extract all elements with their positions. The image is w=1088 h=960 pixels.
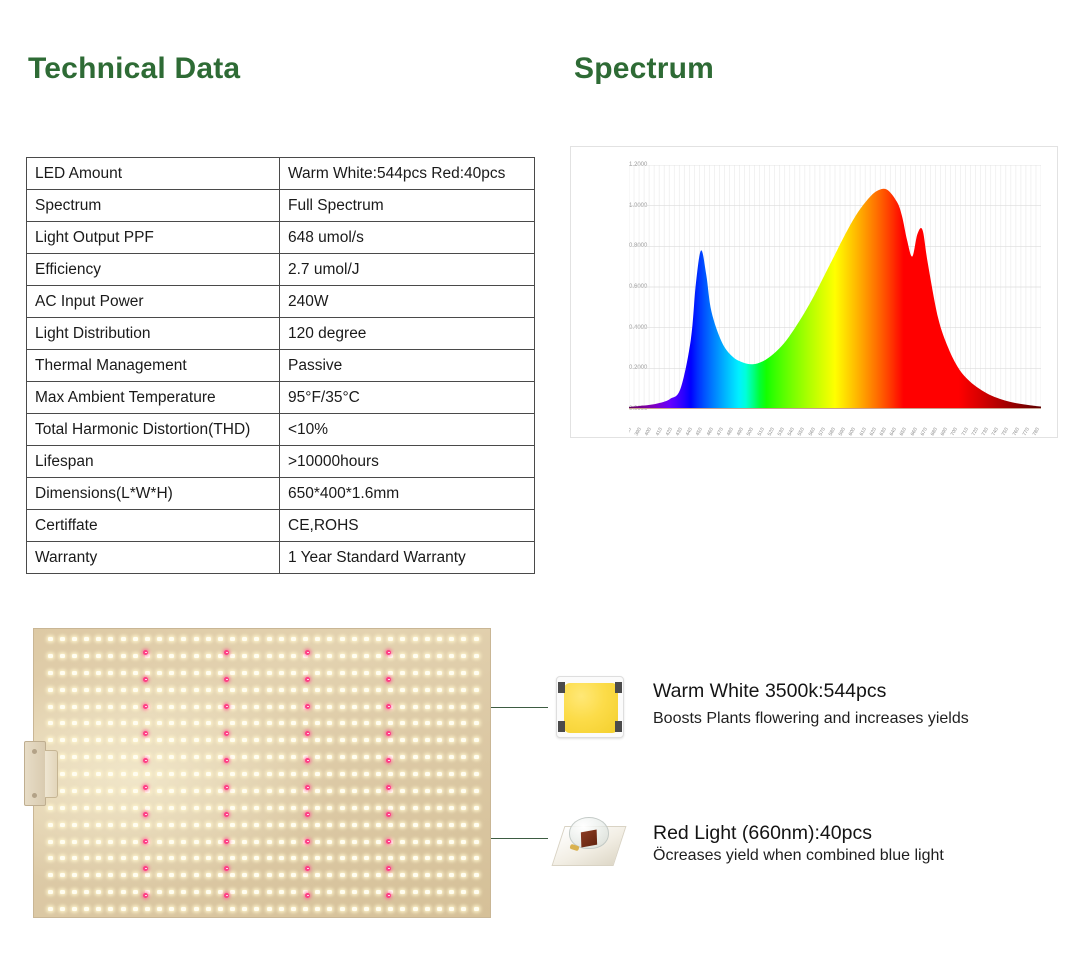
white-led xyxy=(437,654,442,658)
white-led xyxy=(181,654,186,658)
white-led xyxy=(413,755,418,759)
technical-data-table: LED AmountWarm White:544pcs Red:40pcsSpe… xyxy=(26,157,535,574)
white-led xyxy=(133,772,138,776)
white-led xyxy=(267,755,272,759)
white-led xyxy=(206,823,211,827)
white-led xyxy=(352,840,357,844)
white-led xyxy=(461,671,466,675)
white-led xyxy=(181,890,186,894)
white-led xyxy=(254,637,259,641)
white-led xyxy=(194,873,199,877)
white-led xyxy=(267,907,272,911)
white-led xyxy=(157,873,162,877)
white-led xyxy=(194,654,199,658)
white-led xyxy=(194,772,199,776)
white-led xyxy=(254,873,259,877)
white-led xyxy=(230,738,235,742)
x-axis-tick-label: 480 xyxy=(726,427,735,437)
x-axis-tick-label: 780 xyxy=(1032,427,1041,437)
white-led xyxy=(327,856,332,860)
red-led xyxy=(386,758,391,763)
x-axis-tick-label: 450 xyxy=(695,427,704,437)
white-led xyxy=(291,637,296,641)
white-led xyxy=(133,654,138,658)
red-led xyxy=(305,731,310,736)
white-led xyxy=(461,738,466,742)
white-led xyxy=(352,772,357,776)
white-led xyxy=(218,688,223,692)
white-led xyxy=(388,873,393,877)
white-led xyxy=(291,772,296,776)
table-row: Max Ambient Temperature95°F/35°C xyxy=(27,382,535,414)
white-led xyxy=(72,890,77,894)
white-led xyxy=(133,856,138,860)
white-led xyxy=(84,738,89,742)
white-led xyxy=(60,637,65,641)
white-led xyxy=(169,755,174,759)
white-led xyxy=(400,772,405,776)
white-led xyxy=(291,823,296,827)
x-axis-tick-label: 750 xyxy=(1001,427,1010,437)
white-led xyxy=(376,738,381,742)
white-led xyxy=(60,840,65,844)
white-led xyxy=(291,671,296,675)
white-led xyxy=(254,806,259,810)
white-led xyxy=(449,873,454,877)
white-led xyxy=(84,637,89,641)
white-led xyxy=(194,789,199,793)
white-led xyxy=(60,654,65,658)
white-led xyxy=(157,721,162,725)
white-led xyxy=(181,637,186,641)
white-led xyxy=(291,856,296,860)
x-axis-tick-label: 670 xyxy=(919,427,928,437)
white-led xyxy=(437,738,442,742)
white-led xyxy=(413,823,418,827)
white-led xyxy=(461,705,466,709)
white-led xyxy=(291,755,296,759)
white-led xyxy=(108,721,113,725)
white-led xyxy=(254,856,259,860)
spec-key: Light Distribution xyxy=(27,318,280,350)
white-led xyxy=(376,789,381,793)
white-led xyxy=(364,637,369,641)
white-led xyxy=(206,789,211,793)
white-led xyxy=(121,721,126,725)
white-led xyxy=(376,823,381,827)
x-axis-tick-label: 520 xyxy=(766,427,775,437)
white-led xyxy=(279,856,284,860)
white-led xyxy=(218,637,223,641)
white-led xyxy=(206,907,211,911)
red-led xyxy=(224,785,229,790)
white-led xyxy=(230,688,235,692)
white-led xyxy=(413,856,418,860)
white-led xyxy=(169,671,174,675)
white-led xyxy=(449,755,454,759)
white-led xyxy=(145,671,150,675)
white-led xyxy=(194,688,199,692)
white-led xyxy=(376,772,381,776)
table-row: Light Distribution120 degree xyxy=(27,318,535,350)
white-led xyxy=(461,890,466,894)
white-led xyxy=(388,637,393,641)
white-led xyxy=(60,873,65,877)
white-led xyxy=(303,738,308,742)
white-led xyxy=(169,890,174,894)
white-led xyxy=(108,907,113,911)
white-led xyxy=(230,772,235,776)
spec-key: Warranty xyxy=(27,542,280,574)
red-led xyxy=(305,758,310,763)
white-led xyxy=(474,856,479,860)
white-led xyxy=(169,654,174,658)
white-led xyxy=(96,890,101,894)
white-led xyxy=(242,806,247,810)
white-led xyxy=(352,789,357,793)
white-led xyxy=(461,654,466,658)
white-led xyxy=(72,772,77,776)
white-led xyxy=(327,840,332,844)
white-led xyxy=(461,873,466,877)
white-led xyxy=(48,654,53,658)
white-led xyxy=(48,705,53,709)
x-axis-tick-label: 770 xyxy=(1021,427,1030,437)
white-led xyxy=(425,721,430,725)
table-row: Warranty1 Year Standard Warranty xyxy=(27,542,535,574)
white-led xyxy=(327,637,332,641)
white-led xyxy=(169,873,174,877)
red-led xyxy=(386,893,391,898)
table-row: SpectrumFull Spectrum xyxy=(27,190,535,222)
white-led xyxy=(145,738,150,742)
white-led xyxy=(364,840,369,844)
red-led xyxy=(386,677,391,682)
white-led xyxy=(72,873,77,877)
white-led xyxy=(169,772,174,776)
white-led xyxy=(315,654,320,658)
white-led xyxy=(449,806,454,810)
white-led xyxy=(157,789,162,793)
white-led xyxy=(133,806,138,810)
white-led xyxy=(327,755,332,759)
white-led xyxy=(327,789,332,793)
white-led xyxy=(388,806,393,810)
white-led xyxy=(474,671,479,675)
white-led xyxy=(388,721,393,725)
x-axis-tick-label: 630 xyxy=(879,427,888,437)
x-axis-tick-label: 570 xyxy=(817,427,826,437)
white-led xyxy=(340,637,345,641)
white-led xyxy=(254,907,259,911)
white-led xyxy=(413,890,418,894)
white-led xyxy=(96,705,101,709)
white-led xyxy=(388,688,393,692)
white-led xyxy=(340,806,345,810)
white-led xyxy=(218,755,223,759)
white-led xyxy=(60,738,65,742)
white-led xyxy=(206,806,211,810)
white-led xyxy=(48,671,53,675)
white-led xyxy=(230,856,235,860)
white-led xyxy=(206,671,211,675)
white-led xyxy=(218,772,223,776)
white-led xyxy=(145,637,150,641)
white-led xyxy=(267,789,272,793)
x-axis-tick-label: 660 xyxy=(909,427,918,437)
white-led xyxy=(461,721,466,725)
white-led xyxy=(425,671,430,675)
white-led xyxy=(364,823,369,827)
white-led xyxy=(96,637,101,641)
white-led xyxy=(425,637,430,641)
white-led xyxy=(84,890,89,894)
white-led xyxy=(157,856,162,860)
x-axis-tick-label: 500 xyxy=(746,427,755,437)
white-led xyxy=(108,688,113,692)
table-row: Light Output PPF648 umol/s xyxy=(27,222,535,254)
x-axis-tick-label: 740 xyxy=(991,427,1000,437)
white-led xyxy=(84,654,89,658)
x-axis-tick-label: 420 xyxy=(664,427,673,437)
white-led xyxy=(388,738,393,742)
white-led xyxy=(437,705,442,709)
white-led xyxy=(254,688,259,692)
white-led xyxy=(242,705,247,709)
white-led xyxy=(340,873,345,877)
red-led xyxy=(305,785,310,790)
white-led xyxy=(230,823,235,827)
white-led xyxy=(340,772,345,776)
white-led xyxy=(340,721,345,725)
white-led xyxy=(169,637,174,641)
white-led xyxy=(194,705,199,709)
white-led xyxy=(364,789,369,793)
white-led xyxy=(84,705,89,709)
spec-value: <10% xyxy=(280,414,535,446)
white-led xyxy=(121,705,126,709)
red-led xyxy=(386,731,391,736)
white-led xyxy=(169,738,174,742)
white-led xyxy=(279,890,284,894)
white-led xyxy=(48,738,53,742)
white-led xyxy=(364,688,369,692)
white-led xyxy=(376,654,381,658)
white-led xyxy=(206,721,211,725)
x-axis-tick-label: 620 xyxy=(868,427,877,437)
white-led xyxy=(254,654,259,658)
white-led xyxy=(96,856,101,860)
white-led xyxy=(181,755,186,759)
red-led xyxy=(386,866,391,871)
white-led xyxy=(437,688,442,692)
white-led xyxy=(340,688,345,692)
white-led xyxy=(327,721,332,725)
white-led xyxy=(133,840,138,844)
white-led xyxy=(145,721,150,725)
spec-value: 120 degree xyxy=(280,318,535,350)
white-led xyxy=(327,806,332,810)
x-axis-tick-label: 650 xyxy=(899,427,908,437)
white-led xyxy=(437,671,442,675)
spec-value: Warm White:544pcs Red:40pcs xyxy=(280,158,535,190)
white-led xyxy=(133,873,138,877)
white-led xyxy=(218,823,223,827)
white-led xyxy=(206,705,211,709)
white-led xyxy=(121,755,126,759)
white-led xyxy=(388,772,393,776)
white-led xyxy=(315,705,320,709)
white-led xyxy=(108,840,113,844)
white-led xyxy=(352,873,357,877)
x-axis-tick-label: 380 xyxy=(629,427,633,437)
white-led xyxy=(157,907,162,911)
white-led xyxy=(352,907,357,911)
white-led xyxy=(449,772,454,776)
red-led xyxy=(143,677,148,682)
white-led xyxy=(72,637,77,641)
white-led xyxy=(84,772,89,776)
white-led xyxy=(230,907,235,911)
white-led xyxy=(169,789,174,793)
white-led xyxy=(96,907,101,911)
table-row: LED AmountWarm White:544pcs Red:40pcs xyxy=(27,158,535,190)
white-led xyxy=(181,772,186,776)
white-led xyxy=(303,772,308,776)
white-led xyxy=(218,907,223,911)
white-led xyxy=(449,890,454,894)
white-led xyxy=(157,705,162,709)
white-led xyxy=(437,637,442,641)
white-led xyxy=(60,772,65,776)
white-led xyxy=(169,806,174,810)
white-led xyxy=(230,755,235,759)
white-led xyxy=(169,721,174,725)
callout-title-warm-white: Warm White 3500k:544pcs xyxy=(653,680,886,703)
x-axis-tick-label: 430 xyxy=(675,427,684,437)
white-led xyxy=(388,671,393,675)
white-led xyxy=(230,671,235,675)
white-led xyxy=(279,654,284,658)
white-led xyxy=(376,840,381,844)
table-row: Efficiency2.7 umol/J xyxy=(27,254,535,286)
white-led xyxy=(84,789,89,793)
white-led xyxy=(474,806,479,810)
red-led xyxy=(224,866,229,871)
white-led xyxy=(157,806,162,810)
white-led xyxy=(400,721,405,725)
x-axis-tick-label: 390 xyxy=(634,427,643,437)
white-led xyxy=(437,806,442,810)
white-led xyxy=(230,637,235,641)
white-led xyxy=(48,637,53,641)
white-led xyxy=(340,890,345,894)
white-led xyxy=(96,789,101,793)
white-led xyxy=(133,755,138,759)
table-row: AC Input Power240W xyxy=(27,286,535,318)
x-axis-tick-label: 550 xyxy=(797,427,806,437)
red-led xyxy=(224,839,229,844)
white-led xyxy=(437,890,442,894)
white-led xyxy=(242,688,247,692)
white-led xyxy=(157,840,162,844)
callout-subtitle-red-light: Öcreases yield when combined blue light xyxy=(653,847,944,865)
white-led xyxy=(194,637,199,641)
white-led xyxy=(291,705,296,709)
white-led xyxy=(400,873,405,877)
white-led xyxy=(145,907,150,911)
white-led xyxy=(72,738,77,742)
white-led xyxy=(218,654,223,658)
leader-line-warm-white xyxy=(491,707,548,708)
white-led xyxy=(425,688,430,692)
white-led xyxy=(218,705,223,709)
white-led xyxy=(84,856,89,860)
white-led xyxy=(96,671,101,675)
white-led xyxy=(352,637,357,641)
white-led xyxy=(425,890,430,894)
white-led xyxy=(425,789,430,793)
white-led xyxy=(72,806,77,810)
white-led xyxy=(327,671,332,675)
white-led xyxy=(242,873,247,877)
white-led xyxy=(242,654,247,658)
white-led xyxy=(181,806,186,810)
white-led xyxy=(254,823,259,827)
white-led xyxy=(425,755,430,759)
white-led xyxy=(376,705,381,709)
white-led xyxy=(242,738,247,742)
white-led xyxy=(413,907,418,911)
red-led xyxy=(143,866,148,871)
white-led xyxy=(157,738,162,742)
white-led xyxy=(242,772,247,776)
white-led xyxy=(96,772,101,776)
white-led xyxy=(218,789,223,793)
white-led xyxy=(267,654,272,658)
white-led xyxy=(461,823,466,827)
white-led xyxy=(84,721,89,725)
white-led xyxy=(291,721,296,725)
white-led xyxy=(279,755,284,759)
white-led xyxy=(108,789,113,793)
white-led xyxy=(279,705,284,709)
white-led xyxy=(157,654,162,658)
white-led xyxy=(291,890,296,894)
white-led xyxy=(60,688,65,692)
white-led xyxy=(425,856,430,860)
white-led xyxy=(181,840,186,844)
red-led xyxy=(224,650,229,655)
white-led xyxy=(327,907,332,911)
white-led xyxy=(400,823,405,827)
white-led xyxy=(157,671,162,675)
white-led xyxy=(72,721,77,725)
white-led xyxy=(340,755,345,759)
white-led xyxy=(376,755,381,759)
white-led xyxy=(425,654,430,658)
white-led xyxy=(327,772,332,776)
white-led xyxy=(108,738,113,742)
spec-key: Efficiency xyxy=(27,254,280,286)
white-led xyxy=(84,755,89,759)
white-led xyxy=(133,823,138,827)
white-led xyxy=(461,856,466,860)
white-led xyxy=(121,840,126,844)
white-led xyxy=(267,873,272,877)
white-led xyxy=(133,890,138,894)
white-led xyxy=(169,840,174,844)
